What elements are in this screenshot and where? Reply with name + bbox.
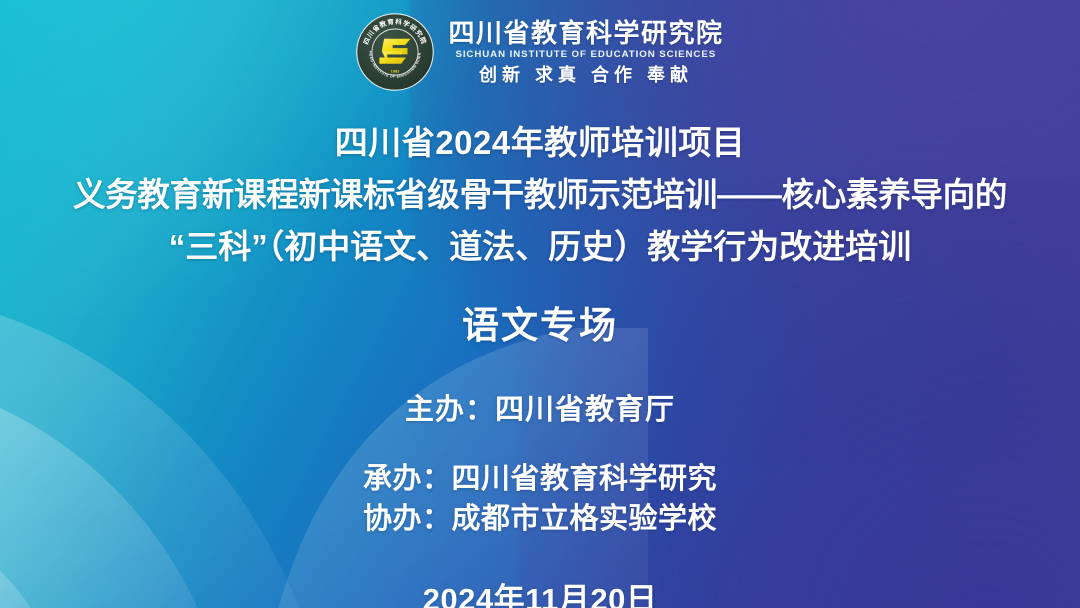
title-line-2: 义务教育新课程新课标省级骨干教师示范培训——核心素养导向的 (8, 174, 1072, 216)
credit-organizers: 承办：四川省教育科学研究 协办：成都市立格实验学校 (0, 459, 1080, 539)
institute-motto: 创新 求真 合作 奉献 (479, 66, 693, 84)
institute-name-en: SICHUAN INSTITUTE OF EDUCATION SCIENCES (456, 50, 717, 60)
subtitle: 语文专场 (0, 295, 1080, 349)
title-line-3: “三科”（初中语文、道法、历史）教学行为改进培训 (0, 226, 1080, 268)
event-date: 2024年11月20日 (0, 574, 1080, 608)
svg-text:1983: 1983 (391, 68, 400, 73)
institute-seal-icon: 四川省教育科学研究院 SICHUAN INSTITUTE OF EDUCATIO… (356, 13, 434, 91)
title-block: 四川省2024年教师培训项目 义务教育新课程新课标省级骨干教师示范培训——核心素… (0, 122, 1080, 349)
credit-organizer: 承办：四川省教育科学研究 (0, 459, 1080, 499)
institute-name-cn: 四川省教育科学研究院 (448, 20, 723, 46)
presentation-title-slide: 四川省教育科学研究院 SICHUAN INSTITUTE OF EDUCATIO… (0, 0, 1080, 608)
institute-logo-lockup: 四川省教育科学研究院 SICHUAN INSTITUTE OF EDUCATIO… (0, 6, 1080, 98)
credit-coorganizer: 协办：成都市立格实验学校 (0, 499, 1080, 539)
credit-host: 主办：四川省教育厅 (0, 386, 1080, 428)
credits-block: 主办：四川省教育厅 承办：四川省教育科学研究 协办：成都市立格实验学校 2024… (0, 386, 1080, 608)
institute-name-block: 四川省教育科学研究院 SICHUAN INSTITUTE OF EDUCATIO… (448, 20, 723, 84)
title-line-1: 四川省2024年教师培训项目 (0, 122, 1080, 164)
